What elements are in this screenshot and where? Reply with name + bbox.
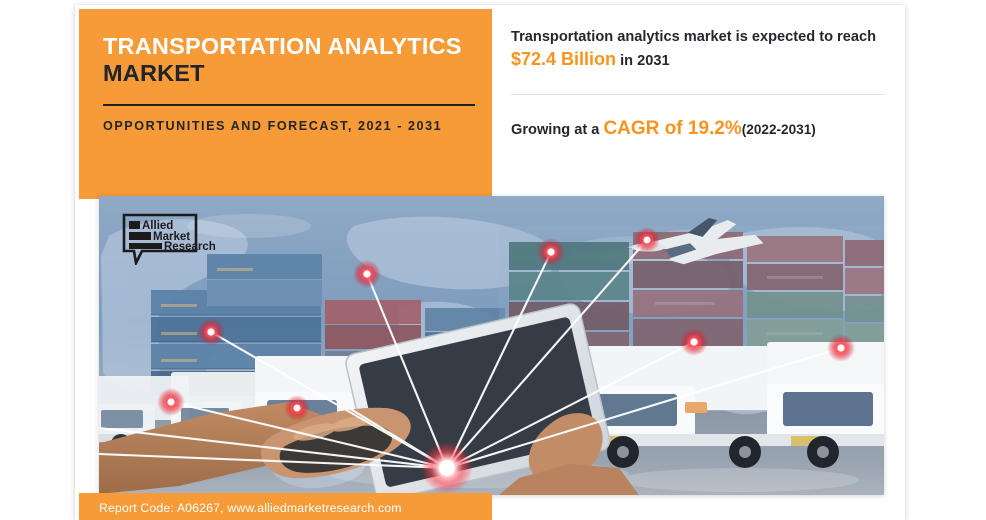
highlights-divider (511, 94, 885, 95)
title-panel: TRANSPORTATION ANALYTICS MARKET OPPORTUN… (79, 9, 492, 199)
market-value-figure: $72.4 Billion (511, 49, 616, 69)
cagr-period: (2022-2031) (742, 122, 816, 137)
highlights-panel: Transportation analytics market is expec… (511, 27, 891, 142)
cagr-prefix: Growing at a (511, 122, 603, 138)
title-line-primary: TRANSPORTATION ANALYTICS (103, 33, 472, 60)
logo-line-3: Research (164, 241, 216, 253)
title-line-secondary: MARKET (103, 60, 472, 87)
report-subtitle: OPPORTUNITIES AND FORECAST, 2021 - 2031 (103, 118, 472, 136)
footer-report-code: Report Code: A06267, www.alliedmarketres… (99, 501, 402, 515)
market-value-statement: Transportation analytics market is expec… (511, 27, 891, 72)
cagr-statement: Growing at a CAGR of 19.2%(2022-2031) (511, 116, 891, 142)
market-value-suffix: in 2031 (616, 53, 670, 69)
page-title: TRANSPORTATION ANALYTICS MARKET (103, 33, 472, 87)
title-divider (103, 104, 475, 106)
report-card: TRANSPORTATION ANALYTICS MARKET OPPORTUN… (75, 5, 905, 520)
allied-market-research-logo: Allied Market Research (122, 213, 227, 265)
market-value-prefix: Transportation analytics market is expec… (511, 29, 876, 45)
hero-image: Allied Market Research (99, 196, 884, 495)
cagr-figure: CAGR of 19.2% (603, 118, 741, 139)
